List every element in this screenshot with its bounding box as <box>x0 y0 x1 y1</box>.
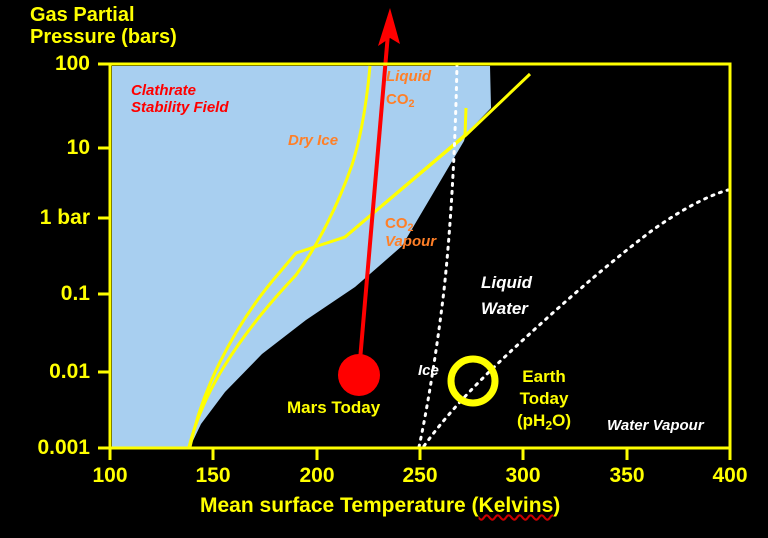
mars-today-label: Mars Today <box>287 398 380 417</box>
y-tick-label-0.01: 0.01 <box>0 360 90 384</box>
x-tick-label-300: 300 <box>493 464 553 488</box>
x-axis-title-suffix: ) <box>553 494 560 517</box>
y-tick-label-10: 10 <box>0 136 90 160</box>
y-axis-title: Gas Partial Pressure (bars) <box>30 4 177 49</box>
liquid-water-label: Liquid Water <box>481 273 532 318</box>
water-vapour-label: Water Vapour <box>607 418 704 435</box>
y-tick-label-0.1: 0.1 <box>0 282 90 306</box>
x-tick-label-100: 100 <box>80 464 140 488</box>
earth-today-ph2o-suffix: O) <box>552 411 571 430</box>
liquid-water-label-line2: Water <box>481 299 532 318</box>
earth-today-label-line3: (pH2O) <box>517 411 571 433</box>
ice-label: Ice <box>418 363 439 380</box>
y-axis-title-line2: Pressure (bars) <box>30 26 177 48</box>
y-tick-label-100: 100 <box>0 52 90 76</box>
liquid-water-label-line1: Liquid <box>481 273 532 292</box>
co2-vapour-label-line2: Vapour <box>385 234 436 251</box>
co2-subscript: 2 <box>409 98 415 110</box>
clathrate-stability-field-label: Clathrate Stability Field <box>131 83 229 117</box>
phase-diagram-figure: Gas Partial Pressure (bars) Mean surface… <box>0 0 768 538</box>
earth-today-label-line2: Today <box>517 389 571 408</box>
y-axis-title-line1: Gas Partial <box>30 4 177 26</box>
earth-today-label: Earth Today (pH2O) <box>517 367 571 433</box>
x-axis-title-prefix: Mean surface Temperature ( <box>200 494 479 517</box>
x-tick-label-200: 200 <box>287 464 347 488</box>
x-tick-label-350: 350 <box>597 464 657 488</box>
x-axis-title: Mean surface Temperature (Kelvins) <box>200 494 560 518</box>
earth-today-ph2o-prefix: (pH <box>517 411 545 430</box>
clathrate-label-line2: Stability Field <box>131 100 229 117</box>
dry-ice-label: Dry Ice <box>288 133 338 150</box>
earth-today-label-line1: Earth <box>517 367 571 386</box>
mars-today-marker <box>338 354 380 396</box>
clathrate-label-line1: Clathrate <box>131 83 229 100</box>
liquid-co2-label-line2: CO2 <box>386 92 431 110</box>
x-tick-label-150: 150 <box>183 464 243 488</box>
x-axis-title-misspelled-word: Kelvins <box>479 494 554 517</box>
x-tick-label-400: 400 <box>700 464 760 488</box>
y-tick-label-1-bar: 1 bar <box>0 206 90 230</box>
plot-canvas <box>0 0 768 538</box>
y-tick-label-0.001: 0.001 <box>0 436 90 460</box>
co2-vapour-label-line1: CO2 <box>385 216 436 234</box>
co2-vapour-label: CO2 Vapour <box>385 216 436 251</box>
liquid-co2-label: Liquid CO2 <box>386 69 431 110</box>
liquid-co2-label-line1: Liquid <box>386 69 431 86</box>
x-tick-label-250: 250 <box>390 464 450 488</box>
